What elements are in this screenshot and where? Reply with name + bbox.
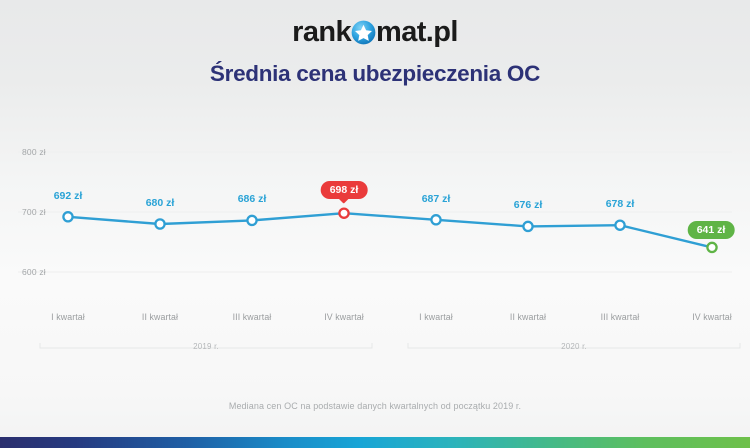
x-axis-category-label: III kwartał <box>601 312 640 322</box>
group-label: 2020 r. <box>555 342 593 351</box>
logo-text-prefix: rank <box>292 18 351 47</box>
gridlines <box>18 152 732 272</box>
bubble-value-label: 641 zł <box>697 224 726 236</box>
line-chart: 600 zł700 zł800 zł 692 zł680 zł686 zł687… <box>0 130 750 380</box>
x-axis-category-label: II kwartał <box>510 312 546 322</box>
y-axis-tick-label: 600 zł <box>22 267 46 277</box>
y-axis-tick-label: 800 zł <box>22 147 46 157</box>
data-point-label: 676 zł <box>514 199 543 211</box>
data-point-marker[interactable] <box>523 222 532 231</box>
data-point-marker[interactable] <box>615 221 624 230</box>
data-point-markers <box>63 209 716 252</box>
star-icon <box>351 20 376 45</box>
group-brackets <box>40 343 740 348</box>
x-axis-category-label: IV kwartał <box>692 312 732 322</box>
x-axis-category-label: I kwartał <box>51 312 85 322</box>
data-point-marker[interactable] <box>707 243 716 252</box>
x-axis-category-label: I kwartał <box>419 312 453 322</box>
highlight-bubble-green: 641 zł <box>688 221 735 239</box>
data-point-label: 692 zł <box>54 190 83 202</box>
chart-plot-svg <box>0 130 750 380</box>
data-point-label: 686 zł <box>238 193 267 205</box>
x-axis-category-label: III kwartał <box>233 312 272 322</box>
y-axis-tick-label: 700 zł <box>22 207 46 217</box>
data-point-marker[interactable] <box>155 219 164 228</box>
data-point-marker[interactable] <box>63 212 72 221</box>
data-point-marker[interactable] <box>339 209 348 218</box>
x-axis-category-label: II kwartał <box>142 312 178 322</box>
header: rank mat.pl Średnia cena ubezpieczenia O… <box>0 0 750 87</box>
data-point-label: 678 zł <box>606 198 635 210</box>
rankomat-logo: rank mat.pl <box>292 18 458 47</box>
logo-text-suffix: mat.pl <box>376 18 458 47</box>
data-point-marker[interactable] <box>247 216 256 225</box>
page-title: Średnia cena ubezpieczenia OC <box>0 61 750 87</box>
data-line <box>68 213 712 247</box>
x-axis-category-label: IV kwartał <box>324 312 364 322</box>
footnote: Mediana cen OC na podstawie danych kwart… <box>0 401 750 411</box>
highlight-bubble-red: 698 zł <box>321 181 368 199</box>
data-point-label: 680 zł <box>146 197 175 209</box>
brand-gradient-bar <box>0 437 750 448</box>
data-point-label: 687 zł <box>422 193 451 205</box>
data-point-marker[interactable] <box>431 215 440 224</box>
group-label: 2019 r. <box>187 342 225 351</box>
